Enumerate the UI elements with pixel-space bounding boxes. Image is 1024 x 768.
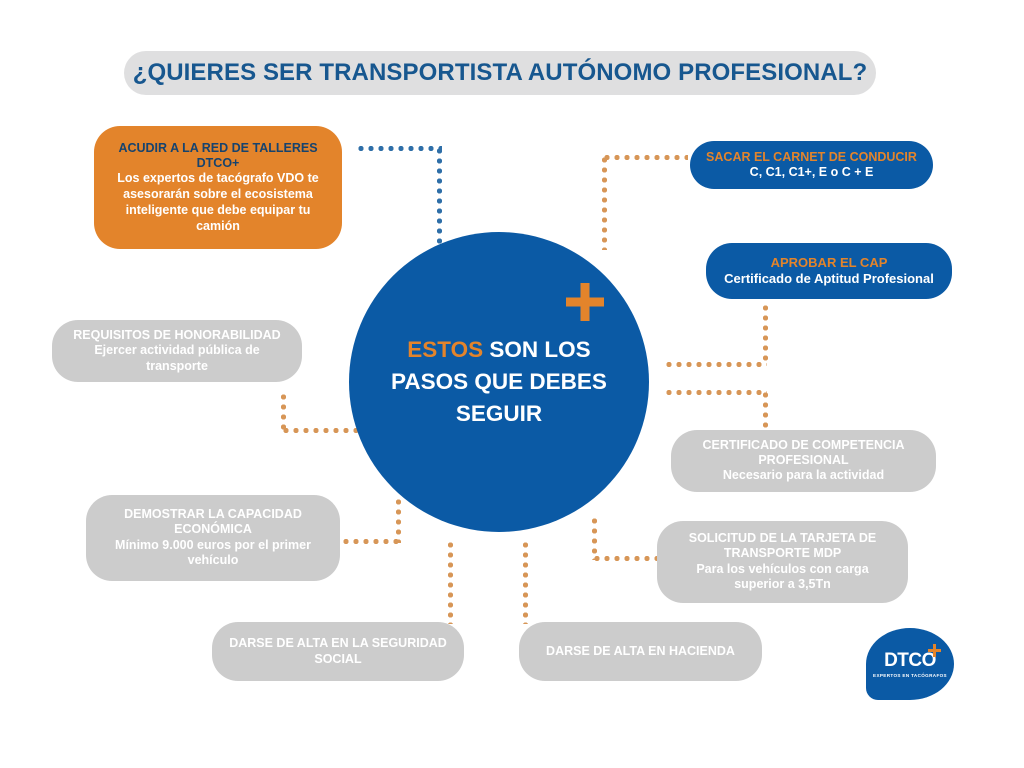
node-honorabilidad[interactable]: REQUISITOS DE HONORABILIDAD Ejercer acti… [52, 320, 302, 382]
node-talleres[interactable]: ACUDIR A LA RED DE TALLERES DTCO+ Los ex… [94, 126, 342, 249]
central-line1-rest: SON LOS [483, 337, 591, 362]
connector-certificado-horizontal [664, 390, 767, 395]
page-title-text: ¿QUIERES SER TRANSPORTISTA AUTÓNOMO PROF… [133, 59, 868, 87]
node-talleres-title: ACUDIR A LA RED DE TALLERES DTCO+ [108, 141, 328, 172]
node-talleres-subtitle: Los expertos de tacógrafo VDO te asesora… [108, 171, 328, 234]
connector-talleres-horizontal [356, 146, 442, 151]
node-certificado-title: CERTIFICADO DE COMPETENCIA PROFESIONAL [685, 438, 922, 469]
page-title: ¿QUIERES SER TRANSPORTISTA AUTÓNOMO PROF… [124, 51, 876, 95]
connector-tarjeta-horizontal [592, 556, 658, 561]
logo-tagline: EXPERTOS EN TACÓGRAFOS [866, 673, 954, 678]
node-certificado-subtitle: Necesario para la actividad [723, 468, 884, 484]
connector-tarjeta-vertical [592, 516, 597, 560]
connector-hacienda-vertical [523, 540, 528, 624]
logo-plus-icon [928, 644, 941, 657]
node-cap-title: APROBAR EL CAP [771, 255, 888, 271]
node-tarjeta-subtitle: Para los vehículos con carga superior a … [671, 562, 894, 594]
node-tarjeta-title: SOLICITUD DE LA TARJETA DE TRANSPORTE MD… [671, 531, 894, 562]
plus-icon [566, 283, 604, 321]
node-carnet-subtitle: C, C1, C1+, E o C + E [750, 165, 874, 181]
node-certificado[interactable]: CERTIFICADO DE COMPETENCIA PROFESIONAL N… [671, 430, 936, 492]
node-honorabilidad-subtitle: Ejercer actividad pública de transporte [66, 343, 288, 375]
node-seguridad-social-title: DARSE DE ALTA EN LA SEGURIDAD SOCIAL [226, 636, 450, 667]
central-node-text: ESTOS SON LOS PASOS QUE DEBES SEGUIR [372, 334, 627, 430]
connector-talleres-vertical [437, 146, 442, 245]
node-economica-title: DEMOSTRAR LA CAPACIDAD ECONÓMICA [100, 507, 326, 538]
node-economica[interactable]: DEMOSTRAR LA CAPACIDAD ECONÓMICA Mínimo … [86, 495, 340, 581]
connector-economica-horizontal [341, 539, 401, 544]
connector-carnet-horizontal [602, 155, 688, 160]
node-cap-subtitle: Certificado de Aptitud Profesional [724, 271, 934, 287]
connector-carnet-vertical [602, 155, 607, 250]
central-node: ESTOS SON LOS PASOS QUE DEBES SEGUIR [349, 232, 649, 532]
node-tarjeta[interactable]: SOLICITUD DE LA TARJETA DE TRANSPORTE MD… [657, 521, 908, 603]
node-seguridad-social[interactable]: DARSE DE ALTA EN LA SEGURIDAD SOCIAL [212, 622, 464, 681]
node-hacienda[interactable]: DARSE DE ALTA EN HACIENDA [519, 622, 762, 681]
central-line2: PASOS QUE DEBES [391, 369, 607, 394]
node-economica-subtitle: Mínimo 9.000 euros por el primer vehícul… [100, 538, 326, 570]
connector-cap-horizontal [664, 362, 767, 367]
connector-economica-vertical [396, 497, 401, 543]
node-cap[interactable]: APROBAR EL CAP Certificado de Aptitud Pr… [706, 243, 952, 299]
node-carnet[interactable]: SACAR EL CARNET DE CONDUCIR C, C1, C1+, … [690, 141, 933, 189]
infographic-canvas: ¿QUIERES SER TRANSPORTISTA AUTÓNOMO PROF… [0, 0, 1024, 768]
central-accent-word: ESTOS [407, 337, 483, 362]
central-line3: SEGUIR [456, 401, 542, 426]
connector-honorabilidad-horizontal [281, 428, 362, 433]
connector-honorabilidad-vertical [281, 392, 286, 432]
connector-seguridad-social-vertical [448, 540, 453, 624]
node-carnet-title: SACAR EL CARNET DE CONDUCIR [706, 150, 917, 165]
node-hacienda-title: DARSE DE ALTA EN HACIENDA [546, 644, 735, 659]
connector-certificado-vertical [763, 390, 768, 435]
dtco-logo: DTCO EXPERTOS EN TACÓGRAFOS [866, 628, 954, 700]
connector-cap-vertical [763, 303, 768, 365]
node-honorabilidad-title: REQUISITOS DE HONORABILIDAD [73, 328, 280, 343]
